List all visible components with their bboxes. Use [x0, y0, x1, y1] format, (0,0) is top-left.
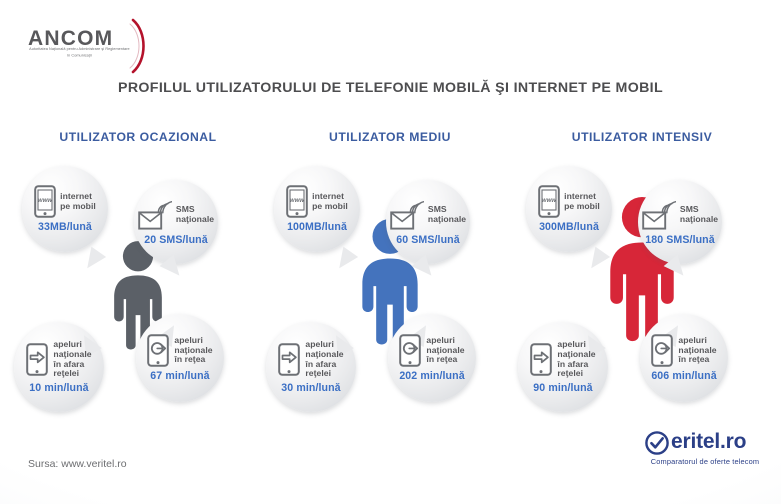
ancom-logo: ANCOM Autoritatea Naţională pentru Admin… — [26, 14, 156, 74]
bubble-icon-label-row: apelurinaţionaleîn afarareţelei — [530, 340, 595, 379]
bubble-label: internetpe mobil — [564, 192, 600, 211]
bubble-content: apelurinaţionaleîn reţea606 min/lună — [640, 334, 728, 382]
user-profile-column: UTILIZATOR INTENSIV wwwinternetpe mobil3… — [512, 118, 772, 428]
veritel-check-icon — [645, 431, 669, 455]
bubble-icon-label-row: apelurinaţionaleîn reţea — [147, 334, 212, 367]
phone-www-icon: www — [34, 185, 56, 218]
column-heading: UTILIZATOR MEDIU — [260, 130, 520, 144]
bubble-label: SMSnaţionale — [176, 205, 214, 224]
bubble-label: apelurinaţionaleîn reţea — [174, 336, 212, 365]
user-profile-column: UTILIZATOR OCAZIONAL wwwinternetpe mobil… — [8, 118, 268, 428]
bubble-value: 202 min/lună — [399, 370, 464, 382]
ancom-wordmark: ANCOM — [28, 28, 113, 49]
bubble-icon-label-row: wwwinternetpe mobil — [34, 185, 96, 218]
ancom-arc-icon — [127, 18, 153, 74]
bubble-value: 10 min/lună — [29, 382, 88, 394]
infographic-canvas: ANCOM Autoritatea Naţională pentru Admin… — [0, 0, 781, 504]
bubble-value: 30 min/lună — [281, 382, 340, 394]
phone-innetwork-call-icon — [399, 334, 422, 367]
phone-outgoing-call-icon — [26, 343, 49, 376]
bubble-value: 300MB/lună — [539, 221, 599, 233]
stat-bubble: wwwinternetpe mobil300MB/lună — [526, 166, 612, 252]
bubble-label: SMSnaţionale — [428, 205, 466, 224]
sms-envelope-icon — [390, 199, 424, 231]
veritel-tagline: Comparatorul de oferte telecom — [645, 457, 765, 466]
ancom-subtitle: Autoritatea Naţională pentru Administrar… — [29, 47, 130, 59]
bubble-value: 60 SMS/lună — [396, 234, 460, 246]
bubble-icon-label-row: wwwinternetpe mobil — [538, 185, 600, 218]
bubble-content: apelurinaţionaleîn afarareţelei30 min/lu… — [266, 340, 356, 394]
bubble-content: apelurinaţionaleîn reţea67 min/lună — [136, 334, 224, 382]
bubble-content: apelurinaţionaleîn reţea202 min/lună — [388, 334, 476, 382]
bubble-label: apelurinaţionaleîn afarareţelei — [557, 340, 595, 379]
column-heading: UTILIZATOR INTENSIV — [512, 130, 772, 144]
stat-bubble: wwwinternetpe mobil33MB/lună — [22, 166, 108, 252]
source-note: Sursa: www.veritel.ro — [28, 458, 127, 470]
stat-bubble: SMSnaţionale60 SMS/lună — [386, 180, 470, 264]
bubble-value: 606 min/lună — [651, 370, 716, 382]
bubble-label: apelurinaţionaleîn afarareţelei — [305, 340, 343, 379]
bubble-label: internetpe mobil — [312, 192, 348, 211]
phone-innetwork-call-icon — [651, 334, 674, 367]
bubble-value: 67 min/lună — [150, 370, 209, 382]
stat-bubble: apelurinaţionaleîn reţea606 min/lună — [640, 314, 728, 402]
bubble-label: apelurinaţionaleîn reţea — [426, 336, 464, 365]
veritel-logo[interactable]: eritel.ro Comparatorul de oferte telecom — [645, 430, 765, 478]
bubble-content: SMSnaţionale60 SMS/lună — [386, 199, 470, 246]
bubble-label: apelurinaţionaleîn reţea — [678, 336, 716, 365]
bubble-icon-label-row: apelurinaţionaleîn afarareţelei — [26, 340, 91, 379]
bubble-value: 180 SMS/lună — [645, 234, 715, 246]
column-heading: UTILIZATOR OCAZIONAL — [8, 130, 268, 144]
phone-innetwork-call-icon — [147, 334, 170, 367]
bubble-icon-label-row: apelurinaţionaleîn reţea — [399, 334, 464, 367]
phone-outgoing-call-icon — [278, 343, 301, 376]
bubble-label: SMSnaţionale — [680, 205, 718, 224]
bubble-label: internetpe mobil — [60, 192, 96, 211]
stat-bubble: apelurinaţionaleîn afarareţelei30 min/lu… — [266, 322, 356, 412]
bubble-content: SMSnaţionale180 SMS/lună — [638, 199, 722, 246]
stat-bubble: apelurinaţionaleîn afarareţelei10 min/lu… — [14, 322, 104, 412]
bubble-content: apelurinaţionaleîn afarareţelei90 min/lu… — [518, 340, 608, 394]
veritel-wordmark: eritel.ro — [671, 430, 746, 454]
stat-bubble: apelurinaţionaleîn reţea67 min/lună — [136, 314, 224, 402]
phone-www-icon: www — [538, 185, 560, 218]
bubble-value: 90 min/lună — [533, 382, 592, 394]
bubble-icon-label-row: apelurinaţionaleîn afarareţelei — [278, 340, 343, 379]
stat-bubble: SMSnaţionale20 SMS/lună — [134, 180, 218, 264]
bubble-label: apelurinaţionaleîn afarareţelei — [53, 340, 91, 379]
user-profile-column: UTILIZATOR MEDIU wwwinternetpe mobil100M… — [260, 118, 520, 428]
stat-bubble: SMSnaţionale180 SMS/lună — [638, 180, 722, 264]
bubble-icon-label-row: SMSnaţionale — [138, 199, 214, 231]
phone-www-icon: www — [286, 185, 308, 218]
svg-text:www: www — [542, 197, 558, 204]
phone-outgoing-call-icon — [530, 343, 553, 376]
svg-text:www: www — [290, 197, 306, 204]
bubble-content: wwwinternetpe mobil33MB/lună — [22, 185, 108, 233]
bubble-tail — [80, 247, 106, 274]
bubble-value: 100MB/lună — [287, 221, 347, 233]
svg-text:www: www — [38, 197, 54, 204]
bubble-content: wwwinternetpe mobil300MB/lună — [526, 185, 612, 233]
bubble-icon-label-row: wwwinternetpe mobil — [286, 185, 348, 218]
bubble-icon-label-row: SMSnaţionale — [642, 199, 718, 231]
stat-bubble: wwwinternetpe mobil100MB/lună — [274, 166, 360, 252]
sms-envelope-icon — [642, 199, 676, 231]
bubble-icon-label-row: apelurinaţionaleîn reţea — [651, 334, 716, 367]
bubble-content: wwwinternetpe mobil100MB/lună — [274, 185, 360, 233]
page-title: PROFILUL UTILIZATORULUI DE TELEFONIE MOB… — [0, 80, 781, 96]
bubble-content: SMSnaţionale20 SMS/lună — [134, 199, 218, 246]
bubble-content: apelurinaţionaleîn afarareţelei10 min/lu… — [14, 340, 104, 394]
bubble-icon-label-row: SMSnaţionale — [390, 199, 466, 231]
bubble-value: 33MB/lună — [38, 221, 92, 233]
stat-bubble: apelurinaţionaleîn afarareţelei90 min/lu… — [518, 322, 608, 412]
stat-bubble: apelurinaţionaleîn reţea202 min/lună — [388, 314, 476, 402]
bubble-value: 20 SMS/lună — [144, 234, 208, 246]
sms-envelope-icon — [138, 199, 172, 231]
